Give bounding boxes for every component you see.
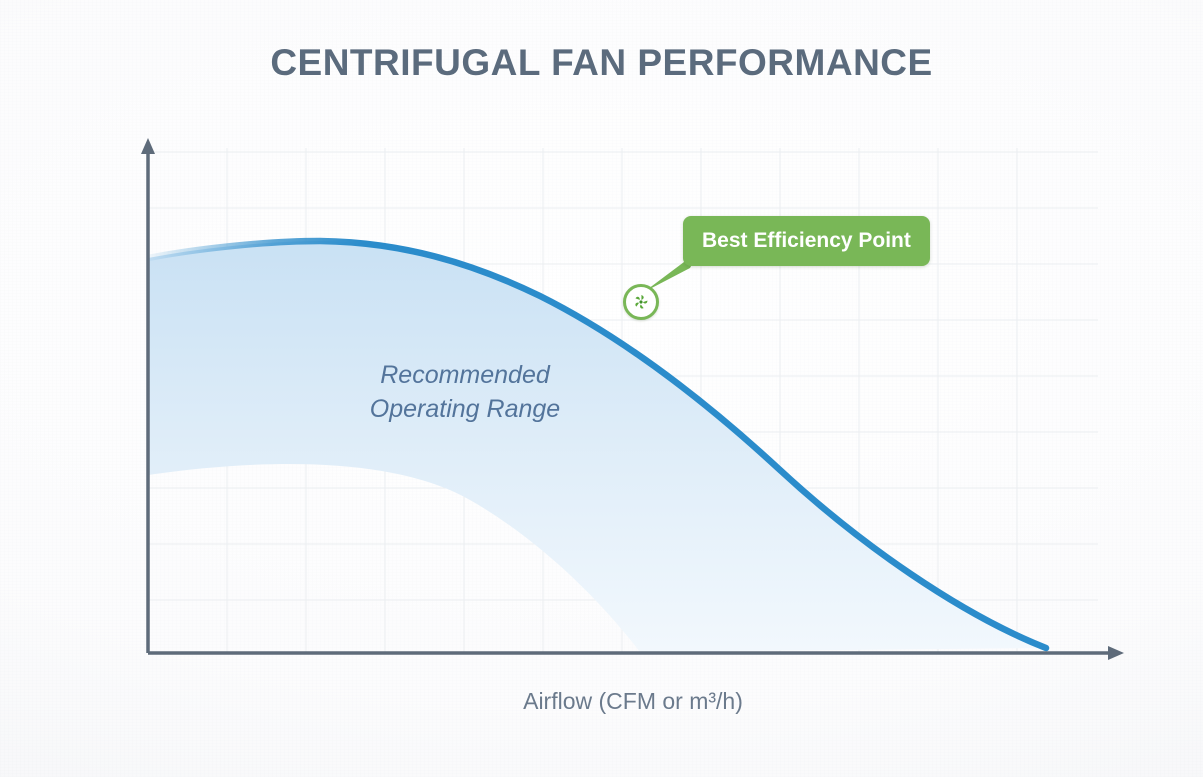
recommended-operating-range-band — [148, 241, 1046, 652]
best-efficiency-point-callout[interactable]: Best Efficiency Point — [683, 216, 930, 266]
recommended-operating-range-label: Recommended Operating Range — [250, 358, 680, 426]
best-efficiency-point-marker[interactable] — [623, 284, 659, 320]
best-efficiency-point-label: Best Efficiency Point — [702, 229, 911, 253]
fan-performance-figure: CENTRIFUGAL FAN PERFORMANCE — [0, 0, 1203, 777]
x-axis-label: Airflow (CFM or m³/h) — [148, 688, 1118, 715]
fan-icon — [632, 293, 650, 311]
